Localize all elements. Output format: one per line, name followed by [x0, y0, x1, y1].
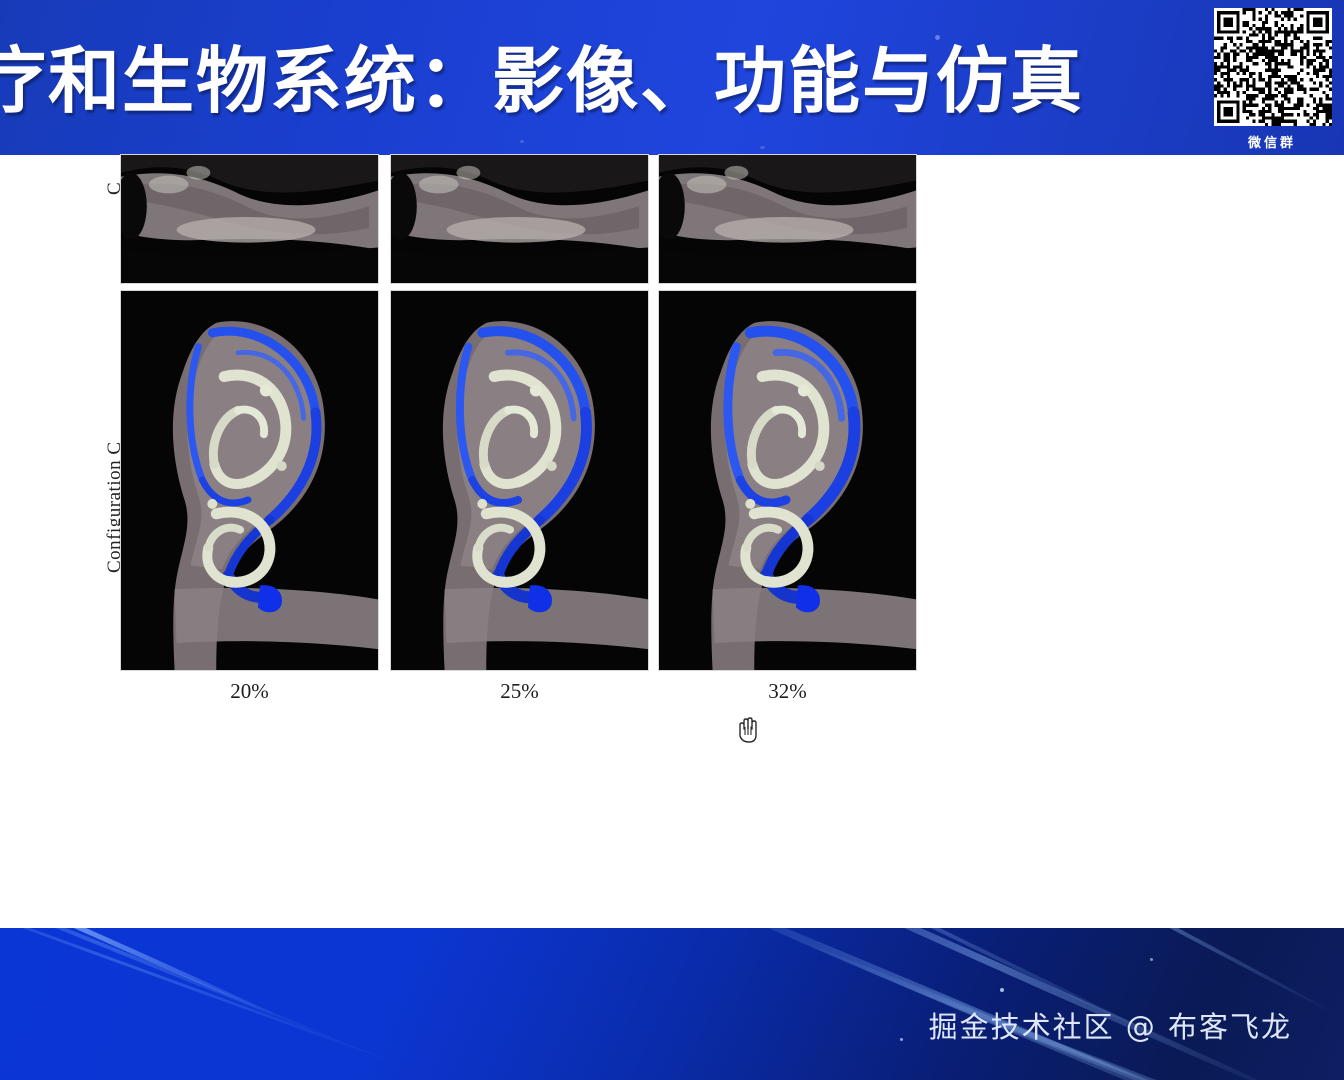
aneurysm-image: [659, 291, 916, 670]
figure-panel[interactable]: [658, 290, 917, 671]
qr-label: 微信群: [1206, 132, 1338, 151]
figure-panel[interactable]: [390, 154, 649, 284]
footer-speck: [1000, 988, 1004, 992]
banner-speck: [520, 140, 524, 143]
title-banner: 疗和生物系统：影像、功能与仿真 微信群: [0, 0, 1344, 155]
vessel-slice-image: [121, 155, 378, 283]
column-label-25: 25%: [390, 679, 649, 704]
footer-streak: [0, 928, 404, 1067]
figure-panel[interactable]: [390, 290, 649, 671]
hand-cursor-icon: [735, 715, 761, 745]
footer-speck: [900, 1038, 903, 1041]
banner-speck: [760, 146, 765, 149]
figure-panel[interactable]: [120, 154, 379, 284]
slide-content: C Configuration C: [0, 155, 1344, 928]
figure-panel[interactable]: [658, 154, 917, 284]
qr-code-icon[interactable]: [1214, 8, 1332, 126]
footer-credit: 掘金技术社区 @ 布客飞龙: [929, 1004, 1292, 1046]
column-label-32: 32%: [658, 679, 917, 704]
figure-panel[interactable]: [120, 290, 379, 671]
aneurysm-image: [121, 291, 378, 670]
figure-panel-grid: C Configuration C: [0, 155, 960, 700]
footer-streak: [0, 928, 353, 1048]
footer-speck: [1150, 958, 1153, 961]
column-label-20: 20%: [120, 679, 379, 704]
vessel-slice-image: [391, 155, 648, 283]
page-title: 疗和生物系统：影像、功能与仿真: [0, 38, 1174, 124]
aneurysm-image: [391, 291, 648, 670]
vessel-slice-image: [659, 155, 916, 283]
footer-banner: 掘金技术社区 @ 布客飞龙: [0, 928, 1344, 1080]
wechat-qr-block[interactable]: 微信群: [1206, 4, 1338, 155]
